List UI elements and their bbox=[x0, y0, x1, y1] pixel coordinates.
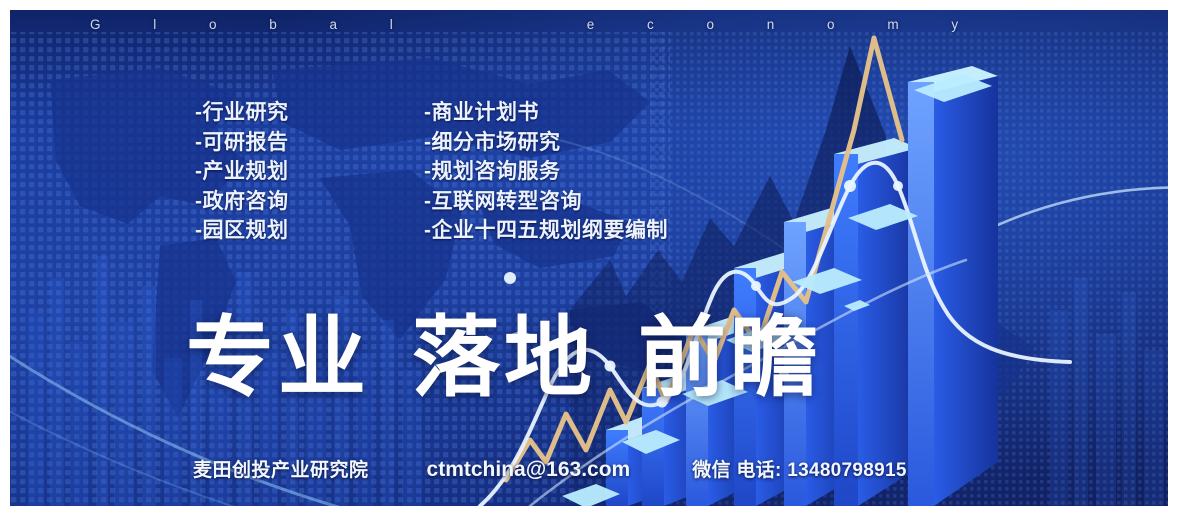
service-item: -互联网转型咨询 bbox=[424, 187, 668, 217]
services-left-column: -行业研究 -可研报告 -产业规划 -政府咨询 -园区规划 bbox=[195, 98, 289, 246]
headline-slogan: 专业落地前瞻 bbox=[186, 312, 822, 404]
service-item: -产业规划 bbox=[195, 157, 289, 187]
promo-banner: G l o b a l e c o n o m y -行业研究 -可研报告 -产… bbox=[10, 10, 1168, 506]
headline-part-2: 落地 bbox=[412, 308, 596, 407]
text-overlay: G l o b a l e c o n o m y -行业研究 -可研报告 -产… bbox=[10, 10, 1168, 506]
headline-part-1: 专业 bbox=[186, 308, 370, 407]
service-item: -园区规划 bbox=[195, 216, 289, 246]
services-right-column: -商业计划书 -细分市场研究 -规划咨询服务 -互联网转型咨询 -企业十四五规划… bbox=[424, 98, 668, 246]
email-address: ctmtchina@163.com bbox=[427, 458, 631, 482]
service-item: -细分市场研究 bbox=[424, 128, 668, 158]
service-item: -规划咨询服务 bbox=[424, 157, 668, 187]
service-item: -商业计划书 bbox=[424, 98, 668, 128]
headline-part-3: 前瞻 bbox=[638, 308, 822, 407]
footer-contact-row: 麦田创投产业研究院 ctmtchina@163.com 微信 电话: 13480… bbox=[193, 455, 907, 482]
phone-contact: 微信 电话: 13480798915 bbox=[692, 455, 907, 482]
service-item: -企业十四五规划纲要编制 bbox=[424, 216, 668, 246]
service-item: -可研报告 bbox=[195, 128, 289, 158]
service-item: -行业研究 bbox=[195, 98, 289, 128]
organization-name: 麦田创投产业研究院 bbox=[193, 455, 369, 482]
kicker-global-economy: G l o b a l e c o n o m y bbox=[90, 17, 1110, 32]
service-item: -政府咨询 bbox=[195, 187, 289, 217]
